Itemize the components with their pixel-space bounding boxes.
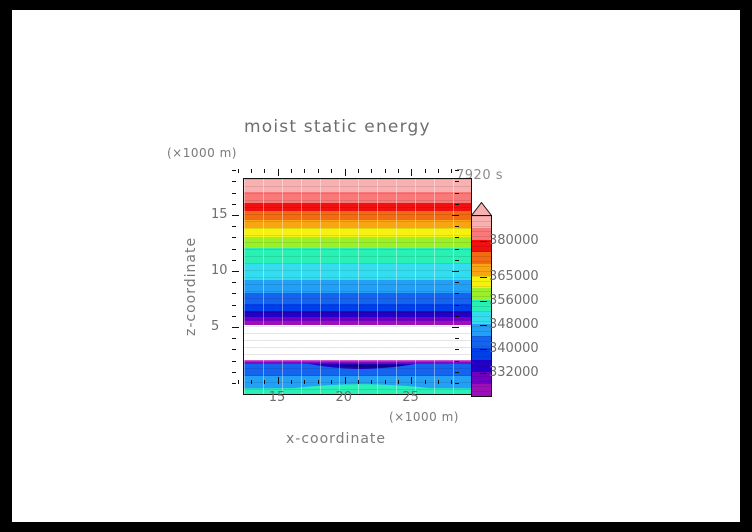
y-axis-tick: [455, 282, 459, 283]
colorbar-tick: [480, 301, 487, 302]
plot-canvas: moist static energy (×1000 m) (×1000 m) …: [12, 10, 740, 522]
colorbar-band: [472, 252, 491, 264]
y-axis-tick: [232, 338, 236, 339]
y-axis-tick: [232, 305, 236, 306]
y-axis-tick: [232, 361, 236, 362]
y-axis-tick: [232, 349, 236, 350]
x-axis-tick: [411, 169, 412, 176]
y-axis-tick: [455, 204, 459, 205]
y-axis-tick: [232, 204, 236, 205]
x-axis-tick: [371, 380, 372, 384]
y-axis-tick: [455, 249, 459, 250]
y-axis-tick: [232, 215, 239, 216]
colorbar-tick-label: 356000: [489, 293, 539, 308]
y-axis-tick: [455, 349, 459, 350]
y-axis-tick: [455, 170, 459, 171]
colorbar-band: [472, 384, 491, 396]
y-axis-tick: [232, 271, 239, 272]
y-axis-tick: [232, 193, 236, 194]
x-axis-tick: [345, 377, 346, 384]
x-axis-tick: [371, 169, 372, 173]
x-axis-tick: [358, 169, 359, 173]
colorbar-tick-label: 332000: [489, 365, 539, 380]
colorbar-tick: [480, 349, 487, 350]
y-axis-tick-label: 5: [211, 319, 219, 334]
colorbar-tick: [480, 241, 487, 242]
colorbar-tick-label: 380000: [489, 233, 539, 248]
y-axis-tick: [455, 305, 459, 306]
x-axis-tick: [318, 380, 319, 384]
y-axis-tick: [455, 372, 459, 373]
x-axis-tick: [291, 169, 292, 173]
y-axis-tick: [232, 282, 236, 283]
y-axis-tick: [455, 237, 459, 238]
x-axis-tick: [345, 169, 346, 176]
x-axis-tick-label: 20: [336, 390, 353, 405]
y-axis-tick: [455, 316, 459, 317]
x-axis-tick: [251, 380, 252, 384]
x-axis-tick: [264, 169, 265, 173]
x-axis-tick-label: 25: [402, 390, 419, 405]
x-axis-tick-label: 15: [269, 390, 286, 405]
x-axis-tick: [251, 169, 252, 173]
x-axis-tick: [318, 169, 319, 173]
colorbar-tick: [480, 277, 487, 278]
colorbar-tick-label: 365000: [489, 269, 539, 284]
colorbar-tick: [480, 373, 487, 374]
x-axis-tick: [304, 169, 305, 173]
colorbar-tick: [480, 325, 487, 326]
x-axis-tick: [385, 169, 386, 173]
y-axis-tick: [232, 372, 236, 373]
y-axis-tick: [232, 170, 236, 171]
cold-pool-feature: [244, 179, 471, 394]
x-axis-unit-label: (×1000 m): [389, 410, 459, 424]
x-axis-tick: [278, 377, 279, 384]
y-axis-tick: [232, 383, 236, 384]
y-axis-tick: [455, 226, 459, 227]
y-axis-tick: [455, 361, 459, 362]
x-axis-tick: [425, 380, 426, 384]
x-axis-tick: [238, 380, 239, 384]
y-axis-tick: [232, 237, 236, 238]
y-axis-tick: [232, 249, 236, 250]
chart-title: moist static energy: [244, 117, 431, 137]
y-axis-tick-label: 10: [211, 263, 228, 278]
y-axis-tick: [232, 293, 236, 294]
x-axis-tick: [398, 380, 399, 384]
x-axis-tick: [291, 380, 292, 384]
y-axis-tick: [232, 181, 236, 182]
y-axis-tick: [455, 383, 459, 384]
y-axis-tick: [452, 215, 459, 216]
y-axis-tick: [452, 271, 459, 272]
x-axis-tick: [304, 380, 305, 384]
y-axis-tick-label: 15: [211, 207, 228, 222]
x-axis-tick: [411, 377, 412, 384]
x-axis-tick: [385, 380, 386, 384]
y-axis-tick: [232, 260, 236, 261]
x-axis-tick: [451, 380, 452, 384]
y-axis-tick: [232, 226, 236, 227]
x-axis-tick: [438, 169, 439, 173]
colorbar-band: [472, 216, 491, 228]
y-axis-tick: [455, 181, 459, 182]
y-axis-tick: [455, 193, 459, 194]
x-axis-tick: [331, 169, 332, 173]
colorbar-tick-label: 348000: [489, 317, 539, 332]
y-axis-tick: [455, 260, 459, 261]
y-axis-tick: [232, 327, 239, 328]
y-axis-tick: [455, 293, 459, 294]
colorbar-tick-label: 340000: [489, 341, 539, 356]
x-axis-title: x-coordinate: [286, 431, 386, 447]
x-axis-tick: [238, 169, 239, 173]
y-axis-tick: [452, 327, 459, 328]
contour-plot-area: [243, 178, 472, 395]
x-axis-tick: [398, 169, 399, 173]
y-axis-tick: [455, 338, 459, 339]
x-axis-tick: [278, 169, 279, 176]
x-axis-tick: [358, 380, 359, 384]
y-axis-unit-label: (×1000 m): [167, 146, 237, 160]
y-axis-tick: [232, 316, 236, 317]
y-axis-title: z-coordinate: [183, 237, 199, 336]
x-axis-tick: [425, 169, 426, 173]
x-axis-tick: [264, 380, 265, 384]
colorbar-extend-arrow: [471, 202, 492, 216]
x-axis-tick: [331, 380, 332, 384]
x-axis-tick: [451, 169, 452, 173]
image-frame: moist static energy (×1000 m) (×1000 m) …: [0, 0, 752, 532]
x-axis-tick: [438, 380, 439, 384]
